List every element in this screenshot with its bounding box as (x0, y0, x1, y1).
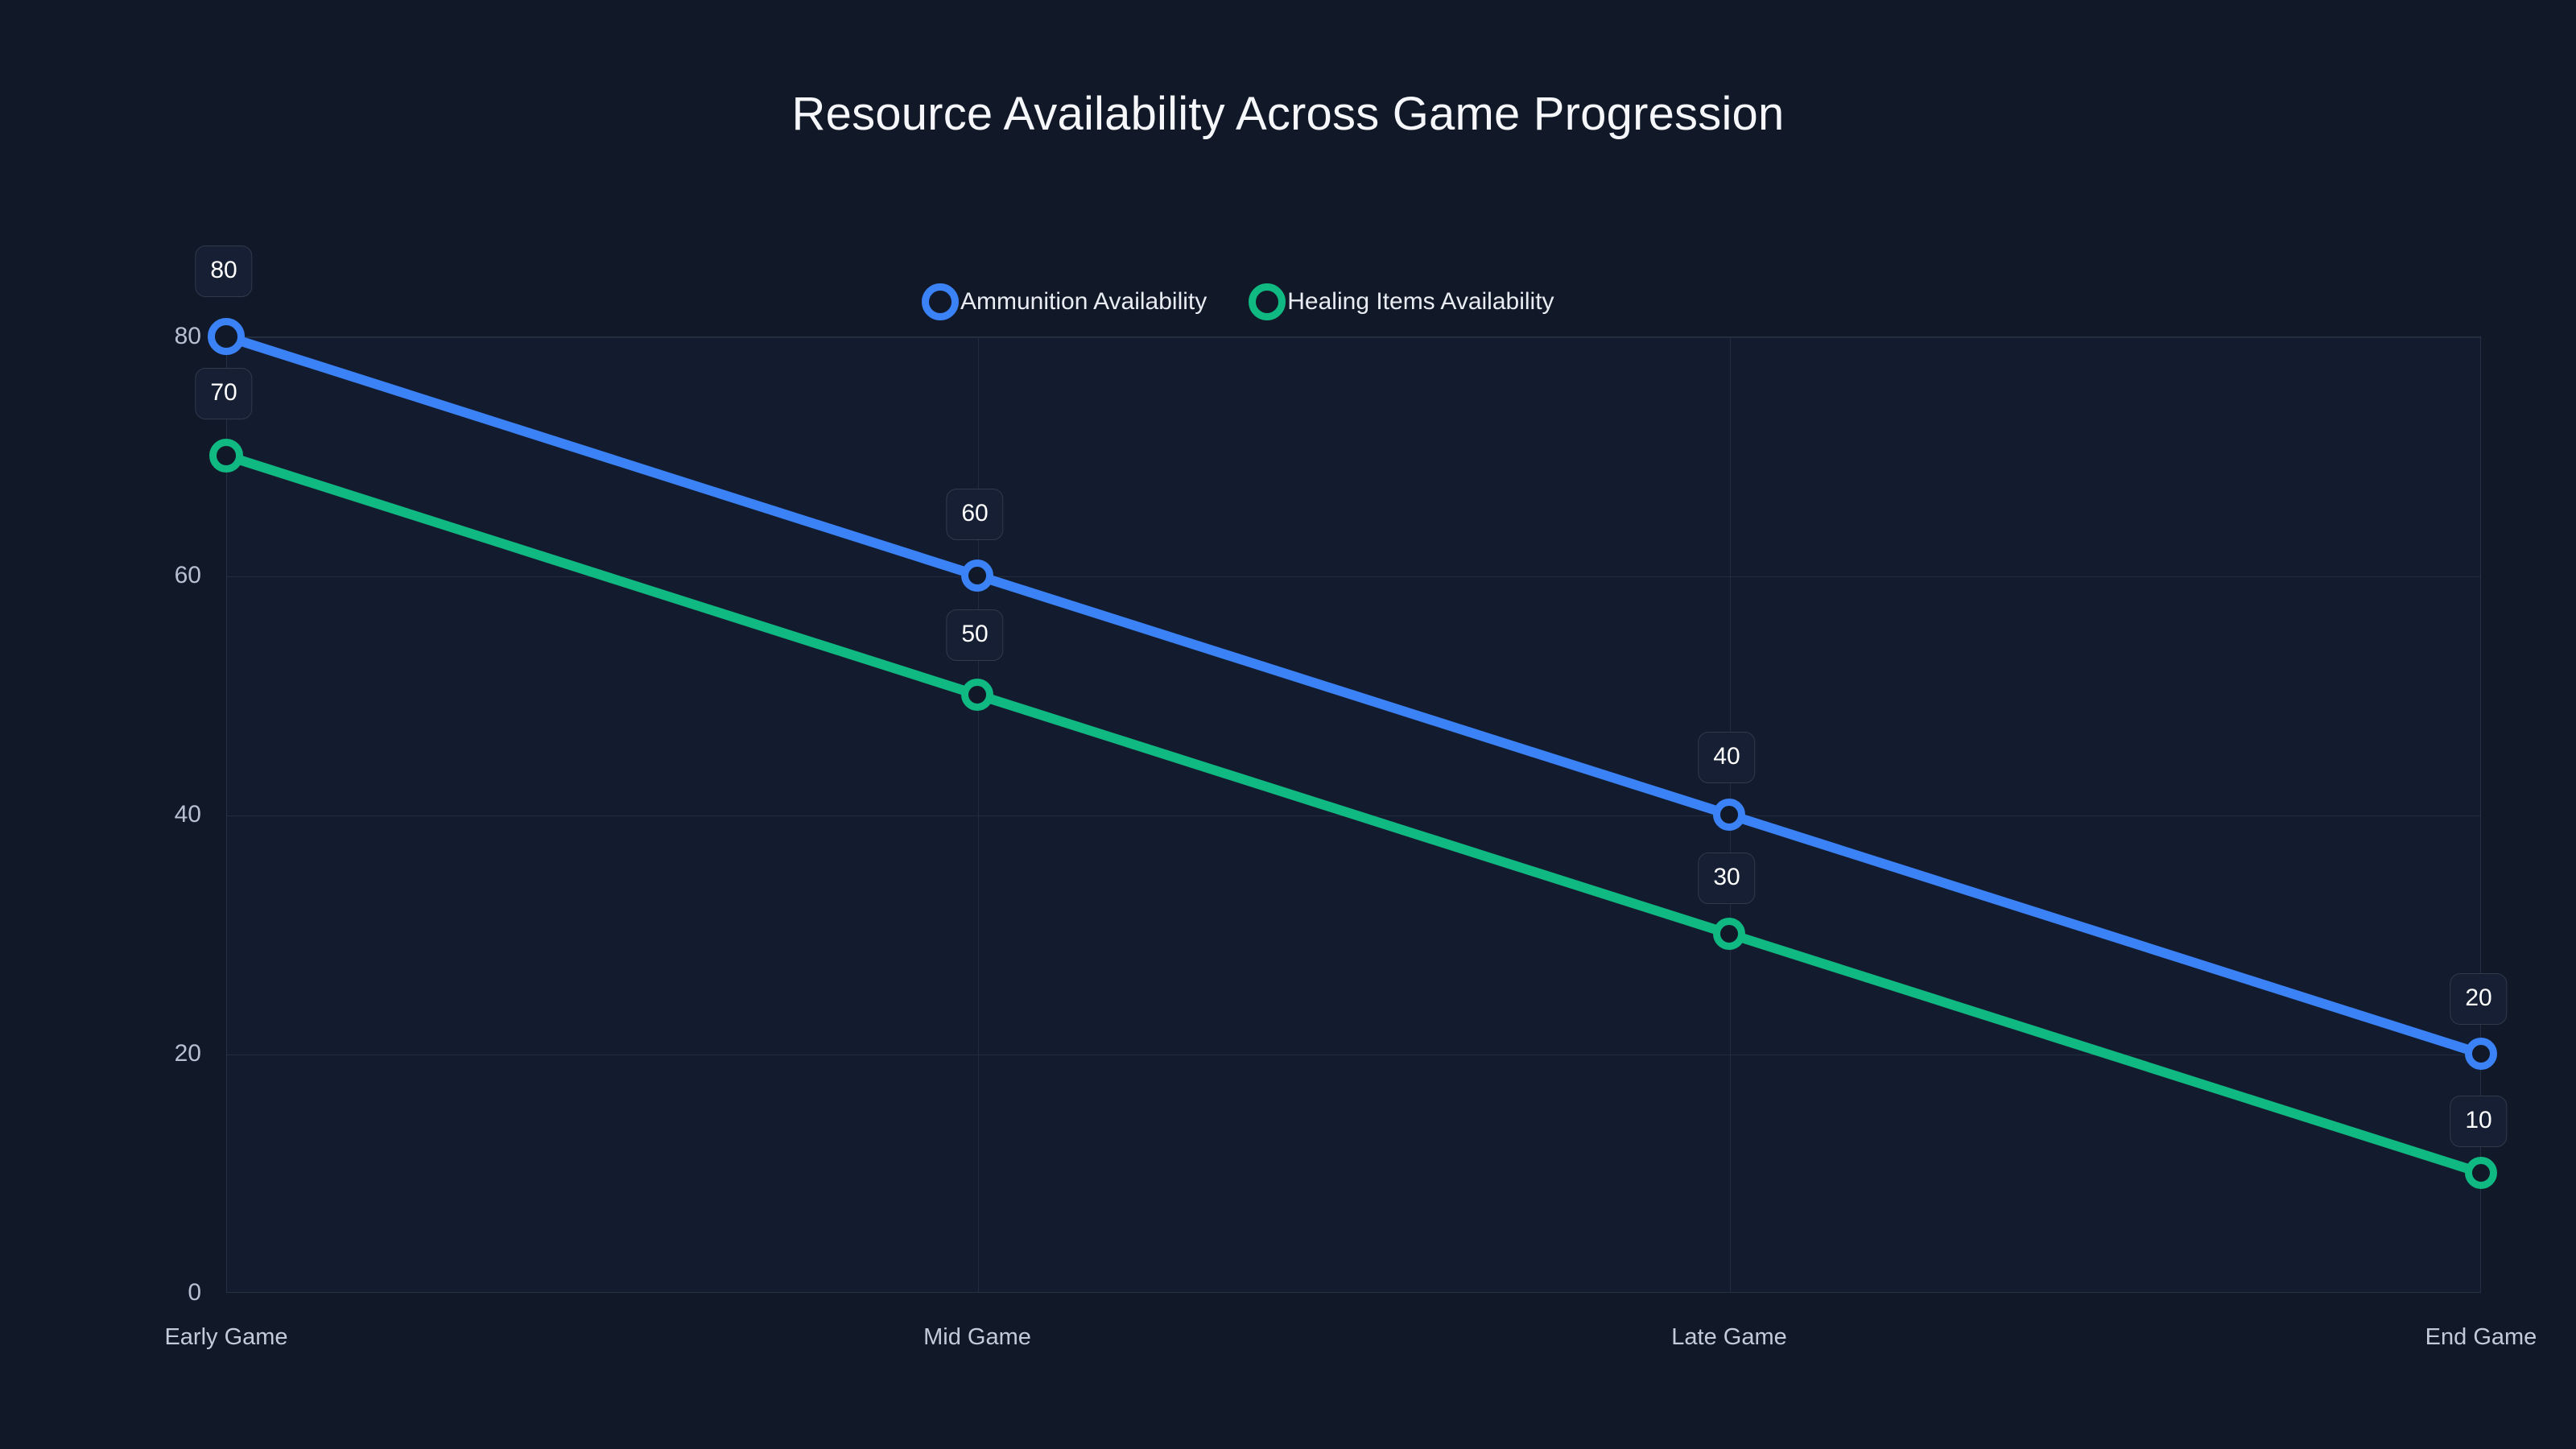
y-tick-label-40: 40 (113, 801, 201, 828)
data-point-healing-end[interactable] (2465, 1157, 2497, 1189)
data-point-ammunition-end[interactable] (2465, 1038, 2497, 1070)
y-tick-label-80: 80 (113, 323, 201, 350)
data-label-ammunition-mid: 60 (946, 489, 1003, 540)
data-label-ammunition-late: 40 (1698, 732, 1755, 783)
circle-outline-icon (922, 283, 959, 320)
data-point-ammunition-early[interactable] (208, 318, 245, 355)
circle-outline-icon (1249, 283, 1286, 320)
gridline-horizontal (227, 337, 2480, 338)
legend-item-ammunition[interactable]: Ammunition Availability (922, 283, 1207, 320)
data-label-healing-mid: 50 (946, 609, 1003, 661)
legend-item-healing[interactable]: Healing Items Availability (1249, 283, 1554, 320)
y-tick-label-20: 20 (113, 1040, 201, 1067)
data-point-healing-late[interactable] (1713, 918, 1745, 950)
gridline-vertical (978, 337, 979, 1292)
legend-item-label: Healing Items Availability (1287, 288, 1554, 316)
y-tick-label-60: 60 (113, 562, 201, 589)
data-label-healing-end: 10 (2450, 1096, 2507, 1147)
data-point-ammunition-late[interactable] (1713, 799, 1745, 831)
data-label-healing-late: 30 (1698, 852, 1755, 904)
chart-legend: Ammunition Availability Healing Items Av… (922, 283, 1554, 320)
x-tick-label-early-game: Early Game (164, 1324, 287, 1351)
data-label-healing-early: 70 (195, 368, 252, 419)
gridline-horizontal (227, 576, 2480, 577)
data-point-ammunition-mid[interactable] (961, 559, 993, 592)
data-label-ammunition-end: 20 (2450, 973, 2507, 1025)
x-tick-label-late-game: Late Game (1671, 1324, 1786, 1351)
data-point-healing-mid[interactable] (961, 679, 993, 711)
data-label-ammunition-early: 80 (195, 246, 252, 297)
legend-item-label: Ammunition Availability (960, 288, 1207, 316)
y-tick-label-0: 0 (113, 1279, 201, 1307)
x-tick-label-end-game: End Game (2425, 1324, 2537, 1351)
gridline-horizontal (227, 1055, 2480, 1055)
plot-area (226, 336, 2481, 1293)
gridline-horizontal (227, 815, 2480, 816)
page-title: Resource Availability Across Game Progre… (0, 87, 2576, 141)
x-tick-label-mid-game: Mid Game (923, 1324, 1031, 1351)
data-point-healing-early[interactable] (209, 439, 243, 473)
chart-canvas: Resource Availability Across Game Progre… (0, 0, 2576, 1449)
